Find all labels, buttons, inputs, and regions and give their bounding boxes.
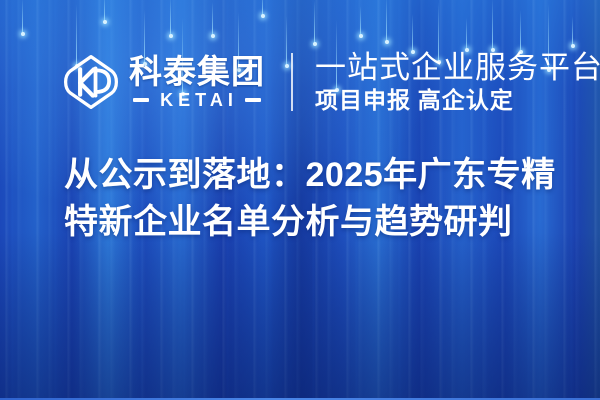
brand-name-en-row: KETAI	[133, 91, 261, 110]
dash-left-icon	[133, 98, 149, 102]
tagline-main: 一站式企业服务平台	[315, 50, 600, 86]
banner-header: 科泰集团 KETAI 一站式企业服务平台 项目申报 高企认定	[0, 44, 600, 120]
banner-headline: 从公示到落地：2025年广东专精特新企业名单分析与趋势研判	[64, 152, 576, 246]
tagline-block: 一站式企业服务平台 项目申报 高企认定	[315, 50, 600, 114]
vertical-divider-icon	[291, 53, 293, 111]
ketai-kt-monogram-icon	[62, 53, 120, 111]
brand-logo[interactable]: 科泰集团 KETAI	[62, 53, 265, 111]
tagline-sub: 项目申报 高企认定	[315, 87, 600, 114]
promo-banner: 科泰集团 KETAI 一站式企业服务平台 项目申报 高企认定 从公示到落地：20…	[0, 0, 600, 400]
dash-right-icon	[245, 98, 261, 102]
brand-name-cn: 科泰集团	[129, 55, 265, 89]
brand-name-en: KETAI	[156, 91, 238, 110]
brand-wordmark: 科泰集团 KETAI	[129, 55, 265, 110]
